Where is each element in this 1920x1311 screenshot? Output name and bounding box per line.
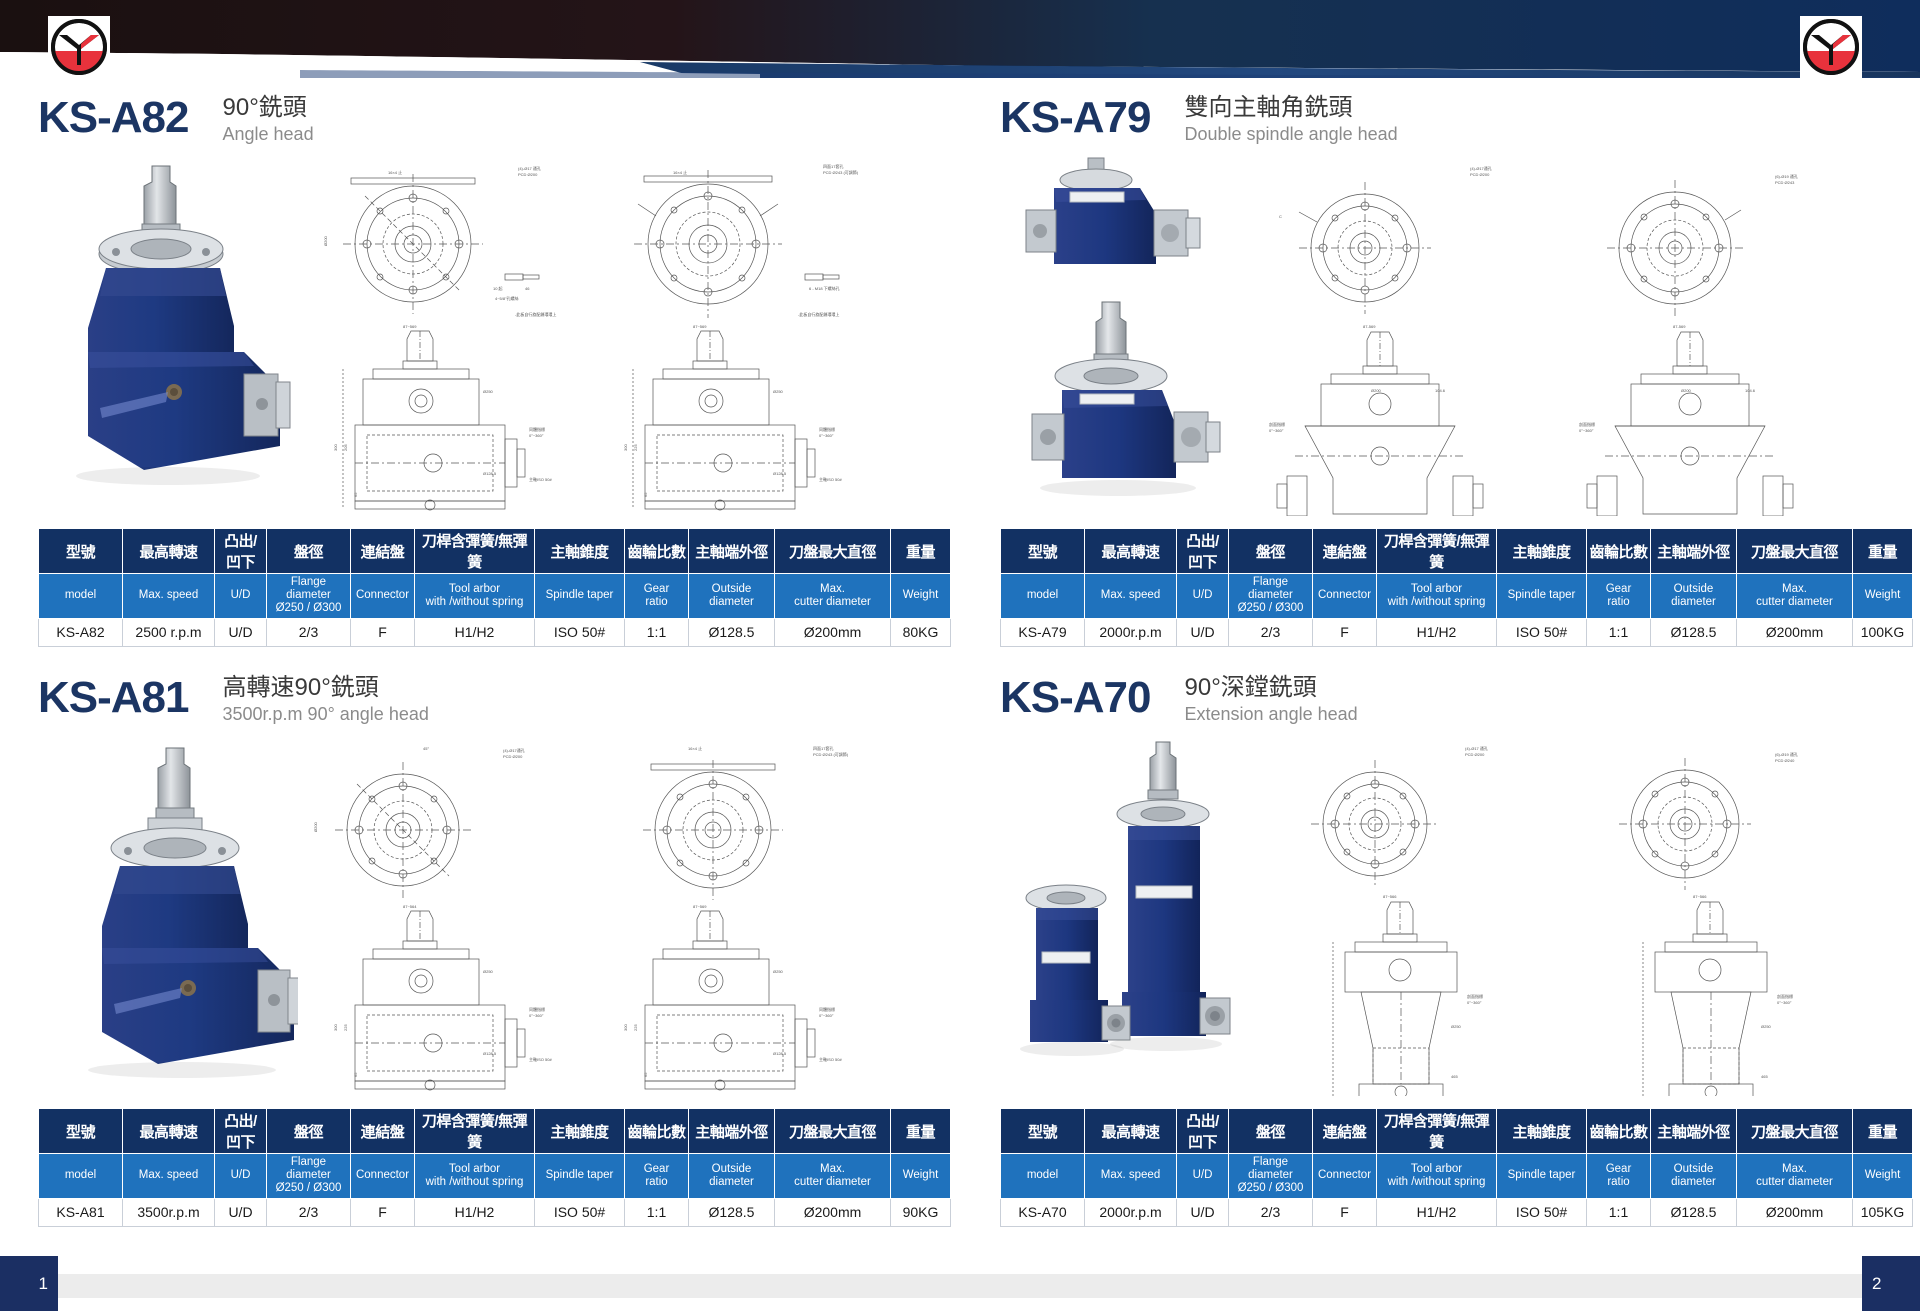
th-outside-en: Outsidediameter: [689, 574, 775, 619]
cell-gear: 1:1: [1587, 618, 1651, 646]
cell-weight: 80KG: [891, 618, 951, 646]
technical-drawings-ks-a79: (4)-Ø17通孔 PCD Ø200 (6)-Ø19 通孔 PCD Ø243: [1255, 156, 1910, 516]
th-flange-cn: 盤徑: [1229, 1109, 1313, 1154]
cell-speed: 2000r.p.m: [1085, 1198, 1177, 1226]
th-conn-cn: 連結盤: [351, 1109, 415, 1154]
cell-gear: 1:1: [1587, 1198, 1651, 1226]
th-taper-en: Spindle taper: [535, 574, 625, 619]
th-conn-cn: 連結盤: [1313, 1109, 1377, 1154]
table-header-row-en: model Max. speed U/D Flange diameterØ250…: [39, 574, 951, 619]
catalog-page: KS-A82 90°銑頭 Angle head: [0, 0, 1920, 1311]
cell-flange: 2/3: [267, 1198, 351, 1226]
table-header-row-en: model Max. speed U/D Flange diameterØ250…: [1001, 574, 1913, 619]
product-photo: [48, 736, 298, 1096]
svg-text:(6)-Ø19 通孔: (6)-Ø19 通孔: [1775, 751, 1798, 757]
svg-text:10 起: 10 起: [493, 285, 503, 291]
svg-text:(4)-Ø17 通孔: (4)-Ø17 通孔: [518, 165, 541, 171]
th-outside-cn: 主軸端外徑: [1651, 1109, 1737, 1154]
svg-text:300: 300: [333, 1024, 338, 1031]
table-header-row-cn: 型號 最高轉速 凸出/凹下 盤徑 連結盤 刀桿含彈簧/無彈簧 主軸錐度 齒輪比數…: [1001, 1109, 1913, 1154]
svg-text:45°: 45°: [423, 746, 429, 751]
cell-weight: 90KG: [891, 1198, 951, 1226]
svg-text:Ø250: Ø250: [773, 969, 784, 974]
cell-taper: ISO 50#: [535, 1198, 625, 1226]
product-photo: [1010, 736, 1260, 1096]
th-gear-cn: 齒輪比數: [1587, 1109, 1651, 1154]
th-model-en: model: [1001, 574, 1085, 619]
product-title-cn: 90°深鏜銑頭: [1185, 674, 1358, 702]
th-cutter-en: Max.cutter diameter: [775, 574, 891, 619]
svg-text:Ø200: Ø200: [313, 821, 318, 832]
svg-text:0°~360°: 0°~360°: [529, 433, 544, 438]
svg-text:PCD Ø240: PCD Ø240: [1775, 758, 1795, 763]
cell-gear: 1:1: [625, 1198, 689, 1226]
th-cutter-en: Max.cutter diameter: [775, 1154, 891, 1199]
th-weight-en: Weight: [1853, 574, 1913, 619]
cell-outside: Ø128.5: [1651, 618, 1737, 646]
product-model-code: KS-A81: [38, 672, 189, 720]
svg-text:Ø128.5: Ø128.5: [773, 471, 787, 476]
product-heading: KS-A70 90°深鏜銑頭 Extension angle head: [1000, 672, 1912, 730]
th-model-cn: 型號: [39, 529, 123, 574]
table-header-row-cn: 型號 最高轉速 凸出/凹下 盤徑 連結盤 刀桿含彈簧/無彈簧 主軸錐度 齒輪比數…: [39, 1109, 951, 1154]
svg-text:465: 465: [1761, 1074, 1768, 1079]
cell-model: KS-A79: [1001, 618, 1085, 646]
svg-text:-此板自行旋配鎖環環上: -此板自行旋配鎖環環上: [798, 311, 839, 317]
svg-text:剖面指標: 剖面指標: [1579, 421, 1595, 427]
svg-text:PCD Ø200: PCD Ø200: [503, 754, 523, 759]
product-photo: [1010, 156, 1260, 516]
svg-text:65: 65: [353, 492, 358, 497]
cell-cutter: Ø200mm: [775, 618, 891, 646]
svg-text:剖面指標: 剖面指標: [1269, 421, 1285, 427]
cell-cutter: Ø200mm: [775, 1198, 891, 1226]
th-arbor-en: Tool arborwith /without spring: [415, 1154, 535, 1199]
svg-text:同體指標: 同體指標: [529, 1006, 545, 1012]
cell-outside: Ø128.5: [689, 1198, 775, 1226]
product-heading: KS-A79 雙向主軸角銑頭 Double spindle angle head: [1000, 92, 1912, 150]
svg-text:主軸ISO 50#: 主軸ISO 50#: [529, 1056, 552, 1062]
th-model-en: model: [39, 1154, 123, 1199]
svg-text:300: 300: [623, 1024, 628, 1031]
th-flange-en: Flange diameterØ250 / Ø300: [1229, 574, 1313, 619]
svg-text:PCD Ø243: PCD Ø243: [1775, 180, 1795, 185]
svg-text:(4)-Ø17通孔: (4)-Ø17通孔: [503, 747, 525, 753]
svg-text:16×4 止: 16×4 止: [673, 169, 687, 175]
th-flange-cn: 盤徑: [267, 529, 351, 574]
svg-text:(4)-Ø17 通孔: (4)-Ø17 通孔: [1465, 745, 1488, 751]
th-arbor-en: Tool arborwith /without spring: [415, 574, 535, 619]
cell-model: KS-A70: [1001, 1198, 1085, 1226]
svg-text:PCD Ø200: PCD Ø200: [518, 172, 538, 177]
svg-text:主軸ISO 50#: 主軸ISO 50#: [819, 1056, 842, 1062]
cell-arbor: H1/H2: [415, 1198, 535, 1226]
th-outside-cn: 主軸端外徑: [689, 529, 775, 574]
product-block-ks-a70: KS-A70 90°深鏜銑頭 Extension angle head: [1000, 672, 1912, 1227]
th-ud-en: U/D: [1177, 574, 1229, 619]
svg-text:104.6: 104.6: [1745, 388, 1756, 393]
product-block-ks-a82: KS-A82 90°銑頭 Angle head: [38, 92, 950, 647]
cell-weight: 105KG: [1853, 1198, 1913, 1226]
svg-text:Ø128.5: Ø128.5: [483, 1051, 497, 1056]
svg-text:225: 225: [343, 1024, 348, 1031]
th-model-cn: 型號: [1001, 529, 1085, 574]
th-weight-cn: 重量: [1853, 529, 1913, 574]
svg-text:87~569: 87~569: [693, 324, 707, 329]
th-conn-en: Connector: [1313, 574, 1377, 619]
svg-text:Ø200: Ø200: [1371, 388, 1382, 393]
product-visual-area: (4)-Ø17通孔 PCD Ø200 (6)-Ø19 通孔 PCD Ø243: [1000, 156, 1912, 524]
cell-speed: 2000r.p.m: [1085, 618, 1177, 646]
th-arbor-en: Tool arborwith /without spring: [1377, 1154, 1497, 1199]
svg-text:225: 225: [633, 1024, 638, 1031]
svg-text:(6)-Ø19 通孔: (6)-Ø19 通孔: [1775, 173, 1798, 179]
product-title-en: Angle head: [223, 124, 314, 146]
svg-text:四面17套孔: 四面17套孔: [823, 163, 843, 169]
svg-text:87~566: 87~566: [1693, 894, 1707, 899]
svg-text:Ø250: Ø250: [483, 969, 494, 974]
svg-text:0°~360°: 0°~360°: [1269, 428, 1284, 433]
svg-text:87-569: 87-569: [1363, 324, 1376, 329]
th-outside-cn: 主軸端外徑: [1651, 529, 1737, 574]
svg-text:Ø128.5: Ø128.5: [483, 471, 497, 476]
cell-taper: ISO 50#: [1497, 618, 1587, 646]
cell-cutter: Ø200mm: [1737, 1198, 1853, 1226]
th-flange-en: Flange diameterØ250 / Ø300: [267, 574, 351, 619]
cell-model: KS-A81: [39, 1198, 123, 1226]
product-title-cn: 雙向主軸角銑頭: [1185, 94, 1398, 122]
table-header-row-cn: 型號 最高轉速 凸出/凹下 盤徑 連結盤 刀桿含彈簧/無彈簧 主軸錐度 齒輪比數…: [1001, 529, 1913, 574]
cell-weight: 100KG: [1853, 618, 1913, 646]
product-model-code: KS-A70: [1000, 672, 1151, 720]
svg-text:46: 46: [525, 286, 530, 291]
footer-bar: [0, 1274, 1920, 1298]
svg-text:4~5/8"孔螺絲: 4~5/8"孔螺絲: [495, 295, 519, 301]
th-cutter-en: Max.cutter diameter: [1737, 1154, 1853, 1199]
technical-drawings-ks-a70: (4)-Ø17 通孔 PCD Ø200 (6)-Ø19 通孔 PCD Ø240: [1255, 736, 1910, 1096]
svg-text:0°~360°: 0°~360°: [819, 1013, 834, 1018]
table-header-row-cn: 型號 最高轉速 凸出/凹下 盤徑 連結盤 刀桿含彈簧/無彈簧 主軸錐度 齒輪比數…: [39, 529, 951, 574]
svg-text:Ø200: Ø200: [323, 235, 328, 246]
svg-text:同體指標: 同體指標: [819, 1006, 835, 1012]
th-gear-cn: 齒輪比數: [625, 529, 689, 574]
cell-conn: F: [351, 618, 415, 646]
cell-conn: F: [351, 1198, 415, 1226]
svg-text:65: 65: [643, 1072, 648, 1077]
th-conn-cn: 連結盤: [1313, 529, 1377, 574]
th-flange-cn: 盤徑: [1229, 529, 1313, 574]
th-weight-en: Weight: [891, 574, 951, 619]
svg-text:65: 65: [353, 1072, 358, 1077]
th-conn-en: Connector: [351, 1154, 415, 1199]
svg-text:PCD Ø243 (可調節): PCD Ø243 (可調節): [823, 169, 859, 175]
cell-outside: Ø128.5: [689, 618, 775, 646]
th-speed-cn: 最高轉速: [1085, 1109, 1177, 1154]
cell-gear: 1:1: [625, 618, 689, 646]
svg-text:87~569: 87~569: [693, 904, 707, 909]
th-cutter-cn: 刀盤最大直徑: [775, 529, 891, 574]
page-number-right: 2: [1862, 1256, 1920, 1311]
th-model-cn: 型號: [1001, 1109, 1085, 1154]
svg-text:65: 65: [643, 492, 648, 497]
svg-text:0°~360°: 0°~360°: [1467, 1000, 1482, 1005]
th-arbor-cn: 刀桿含彈簧/無彈簧: [415, 529, 535, 574]
svg-text:87~566: 87~566: [1383, 894, 1397, 899]
th-speed-cn: 最高轉速: [123, 1109, 215, 1154]
th-speed-cn: 最高轉速: [1085, 529, 1177, 574]
product-title-cn: 高轉速90°銑頭: [223, 674, 429, 702]
th-speed-en: Max. speed: [123, 574, 215, 619]
th-conn-en: Connector: [351, 574, 415, 619]
svg-text:300: 300: [333, 444, 338, 451]
cell-speed: 3500r.p.m: [123, 1198, 215, 1226]
technical-drawings-ks-a81: 45° (4)-Ø17通孔 PCD Ø200 16×4 止 四面17套孔 PCD…: [293, 736, 948, 1096]
product-model-code: KS-A82: [38, 92, 189, 140]
cell-taper: ISO 50#: [1497, 1198, 1587, 1226]
spec-table-ks-a79: 型號 最高轉速 凸出/凹下 盤徑 連結盤 刀桿含彈簧/無彈簧 主軸錐度 齒輪比數…: [1000, 528, 1913, 647]
th-ud-en: U/D: [215, 574, 267, 619]
th-flange-en: Flange diameterØ250 / Ø300: [267, 1154, 351, 1199]
th-speed-en: Max. speed: [1085, 574, 1177, 619]
th-weight-cn: 重量: [891, 1109, 951, 1154]
spec-table-ks-a82: 型號 最高轉速 凸出/凹下 盤徑 連結盤 刀桿含彈簧/無彈簧 主軸錐度 齒輪比數…: [38, 528, 951, 647]
page-number-left: 1: [0, 1256, 58, 1311]
table-row: KS-A70 2000r.p.m U/D 2/3 F H1/H2 ISO 50#…: [1001, 1198, 1913, 1226]
svg-text:0°~360°: 0°~360°: [1777, 1000, 1792, 1005]
cell-arbor: H1/H2: [1377, 1198, 1497, 1226]
cell-taper: ISO 50#: [535, 618, 625, 646]
svg-text:主軸ISO 50#: 主軸ISO 50#: [529, 476, 552, 482]
product-block-ks-a79: KS-A79 雙向主軸角銑頭 Double spindle angle head: [1000, 92, 1912, 647]
company-logo-right: [1800, 16, 1862, 78]
svg-text:Ø250: Ø250: [1761, 1024, 1772, 1029]
th-gear-cn: 齒輪比數: [1587, 529, 1651, 574]
svg-text:C: C: [1279, 214, 1282, 219]
product-title-group: 90°銑頭 Angle head: [223, 92, 314, 145]
svg-text:剖面指標: 剖面指標: [1467, 993, 1483, 999]
th-gear-en: Gearratio: [1587, 574, 1651, 619]
th-arbor-en: Tool arborwith /without spring: [1377, 574, 1497, 619]
svg-text:Ø250: Ø250: [773, 389, 784, 394]
table-header-row-en: model Max. speed U/D Flange diameterØ250…: [1001, 1154, 1913, 1199]
th-taper-cn: 主軸錐度: [535, 1109, 625, 1154]
product-title-group: 90°深鏜銑頭 Extension angle head: [1185, 672, 1358, 725]
product-model-code: KS-A79: [1000, 92, 1151, 140]
th-outside-cn: 主軸端外徑: [689, 1109, 775, 1154]
svg-text:87-569: 87-569: [1673, 324, 1686, 329]
svg-text:0°~360°: 0°~360°: [819, 433, 834, 438]
th-outside-en: Outsidediameter: [689, 1154, 775, 1199]
th-gear-cn: 齒輪比數: [625, 1109, 689, 1154]
th-ud-en: U/D: [215, 1154, 267, 1199]
th-flange-en: Flange diameterØ250 / Ø300: [1229, 1154, 1313, 1199]
svg-text:225: 225: [633, 444, 638, 451]
svg-text:Ø250: Ø250: [1451, 1024, 1462, 1029]
svg-text:-此板自行旋配鎖環環上: -此板自行旋配鎖環環上: [515, 311, 556, 317]
product-visual-area: (4)-Ø17 通孔 PCD Ø200 (6)-Ø19 通孔 PCD Ø240: [1000, 736, 1912, 1104]
svg-text:0°~360°: 0°~360°: [1579, 428, 1594, 433]
product-title-cn: 90°銑頭: [223, 94, 314, 122]
svg-text:Ø250: Ø250: [483, 389, 494, 394]
svg-text:16×4 止: 16×4 止: [688, 745, 702, 751]
th-taper-cn: 主軸錐度: [1497, 529, 1587, 574]
th-cutter-en: Max.cutter diameter: [1737, 574, 1853, 619]
svg-text:6 - M18 下螺絲孔: 6 - M18 下螺絲孔: [809, 285, 840, 291]
svg-text:300: 300: [623, 444, 628, 451]
th-speed-en: Max. speed: [123, 1154, 215, 1199]
th-flange-cn: 盤徑: [267, 1109, 351, 1154]
product-heading: KS-A81 高轉速90°銑頭 3500r.p.m 90° angle head: [38, 672, 950, 730]
th-conn-cn: 連結盤: [351, 529, 415, 574]
table-row: KS-A81 3500r.p.m U/D 2/3 F H1/H2 ISO 50#…: [39, 1198, 951, 1226]
cell-arbor: H1/H2: [1377, 618, 1497, 646]
spec-table-ks-a81: 型號 最高轉速 凸出/凹下 盤徑 連結盤 刀桿含彈簧/無彈簧 主軸錐度 齒輪比數…: [38, 1108, 951, 1227]
page-header-banner: [0, 0, 1920, 78]
th-weight-cn: 重量: [1853, 1109, 1913, 1154]
product-visual-area: 45° (4)-Ø17通孔 PCD Ø200 16×4 止 四面17套孔 PCD…: [38, 736, 950, 1104]
svg-text:465: 465: [1451, 1074, 1458, 1079]
cell-flange: 2/3: [1229, 1198, 1313, 1226]
th-arbor-cn: 刀桿含彈簧/無彈簧: [415, 1109, 535, 1154]
cell-ud: U/D: [1177, 618, 1229, 646]
svg-text:同體指標: 同體指標: [819, 426, 835, 432]
cell-flange: 2/3: [267, 618, 351, 646]
th-arbor-cn: 刀桿含彈簧/無彈簧: [1377, 529, 1497, 574]
spec-table-ks-a70: 型號 最高轉速 凸出/凹下 盤徑 連結盤 刀桿含彈簧/無彈簧 主軸錐度 齒輪比數…: [1000, 1108, 1913, 1227]
th-ud-cn: 凸出/凹下: [215, 1109, 267, 1154]
th-speed-cn: 最高轉速: [123, 529, 215, 574]
th-outside-en: Outsidediameter: [1651, 1154, 1737, 1199]
cell-ud: U/D: [1177, 1198, 1229, 1226]
svg-text:0°~360°: 0°~360°: [529, 1013, 544, 1018]
svg-text:PCD Ø243 (可調節): PCD Ø243 (可調節): [813, 751, 849, 757]
cell-flange: 2/3: [1229, 618, 1313, 646]
product-title-group: 雙向主軸角銑頭 Double spindle angle head: [1185, 92, 1398, 145]
svg-text:Ø128.5: Ø128.5: [773, 1051, 787, 1056]
svg-text:205: 205: [343, 444, 348, 451]
product-title-en: 3500r.p.m 90° angle head: [223, 704, 429, 726]
svg-text:87~564: 87~564: [403, 904, 417, 909]
product-title-en: Extension angle head: [1185, 704, 1358, 726]
page-footer: 1 2: [0, 1256, 1920, 1311]
y-circle-logo-icon: [50, 18, 108, 76]
th-taper-en: Spindle taper: [535, 1154, 625, 1199]
th-gear-en: Gearratio: [625, 1154, 689, 1199]
th-taper-en: Spindle taper: [1497, 574, 1587, 619]
th-weight-cn: 重量: [891, 529, 951, 574]
th-conn-en: Connector: [1313, 1154, 1377, 1199]
th-ud-cn: 凸出/凹下: [1177, 529, 1229, 574]
company-logo-left: [48, 16, 110, 78]
cell-cutter: Ø200mm: [1737, 618, 1853, 646]
th-weight-en: Weight: [1853, 1154, 1913, 1199]
th-gear-en: Gearratio: [625, 574, 689, 619]
product-visual-area: 16×4 止 (4)-Ø17 通孔 PCD Ø200 16×4 止 四面17套孔…: [38, 156, 950, 524]
th-cutter-cn: 刀盤最大直徑: [1737, 529, 1853, 574]
th-weight-en: Weight: [891, 1154, 951, 1199]
svg-text:四面17套孔: 四面17套孔: [813, 745, 833, 751]
th-taper-cn: 主軸錐度: [535, 529, 625, 574]
th-taper-en: Spindle taper: [1497, 1154, 1587, 1199]
svg-text:PCD Ø200: PCD Ø200: [1465, 752, 1485, 757]
svg-text:87~569: 87~569: [403, 324, 417, 329]
th-speed-en: Max. speed: [1085, 1154, 1177, 1199]
th-model-cn: 型號: [39, 1109, 123, 1154]
table-row: KS-A79 2000r.p.m U/D 2/3 F H1/H2 ISO 50#…: [1001, 618, 1913, 646]
cell-arbor: H1/H2: [415, 618, 535, 646]
table-header-row-en: model Max. speed U/D Flange diameterØ250…: [39, 1154, 951, 1199]
cell-ud: U/D: [215, 1198, 267, 1226]
product-photo: [48, 156, 298, 516]
y-circle-logo-icon: [1802, 18, 1860, 76]
svg-text:Ø200: Ø200: [1681, 388, 1692, 393]
th-ud-en: U/D: [1177, 1154, 1229, 1199]
th-ud-cn: 凸出/凹下: [1177, 1109, 1229, 1154]
product-title-group: 高轉速90°銑頭 3500r.p.m 90° angle head: [223, 672, 429, 725]
th-cutter-cn: 刀盤最大直徑: [775, 1109, 891, 1154]
cell-outside: Ø128.5: [1651, 1198, 1737, 1226]
product-block-ks-a81: KS-A81 高轉速90°銑頭 3500r.p.m 90° angle head: [38, 672, 950, 1227]
technical-drawings-ks-a82: 16×4 止 (4)-Ø17 通孔 PCD Ø200 16×4 止 四面17套孔…: [293, 156, 948, 516]
th-arbor-cn: 刀桿含彈簧/無彈簧: [1377, 1109, 1497, 1154]
th-model-en: model: [1001, 1154, 1085, 1199]
svg-text:主軸ISO 50#: 主軸ISO 50#: [819, 476, 842, 482]
svg-text:剖面指標: 剖面指標: [1777, 993, 1793, 999]
product-title-en: Double spindle angle head: [1185, 124, 1398, 146]
table-row: KS-A82 2500 r.p.m U/D 2/3 F H1/H2 ISO 50…: [39, 618, 951, 646]
th-ud-cn: 凸出/凹下: [215, 529, 267, 574]
cell-conn: F: [1313, 1198, 1377, 1226]
cell-ud: U/D: [215, 618, 267, 646]
th-gear-en: Gearratio: [1587, 1154, 1651, 1199]
svg-text:同體指標: 同體指標: [529, 426, 545, 432]
svg-text:(4)-Ø17通孔: (4)-Ø17通孔: [1470, 165, 1492, 171]
svg-text:16×4 止: 16×4 止: [388, 169, 402, 175]
cell-conn: F: [1313, 618, 1377, 646]
cell-speed: 2500 r.p.m: [123, 618, 215, 646]
svg-text:PCD Ø200: PCD Ø200: [1470, 172, 1490, 177]
svg-text:104.6: 104.6: [1435, 388, 1446, 393]
th-taper-cn: 主軸錐度: [1497, 1109, 1587, 1154]
th-outside-en: Outsidediameter: [1651, 574, 1737, 619]
product-heading: KS-A82 90°銑頭 Angle head: [38, 92, 950, 150]
th-model-en: model: [39, 574, 123, 619]
cell-model: KS-A82: [39, 618, 123, 646]
th-cutter-cn: 刀盤最大直徑: [1737, 1109, 1853, 1154]
